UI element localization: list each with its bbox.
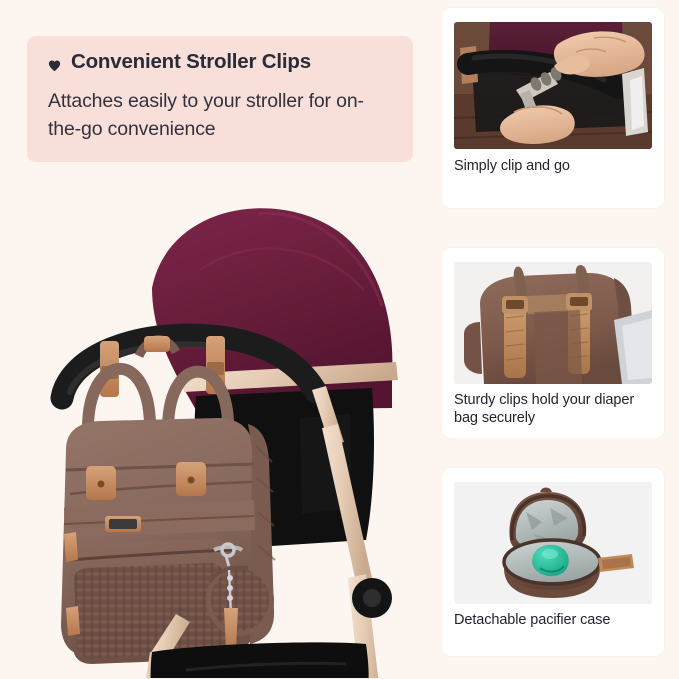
feature-card-sturdy-clips[interactable]: Sturdy clips hold your diaper bag secure… [442, 248, 664, 438]
card-caption: Simply clip and go [454, 158, 654, 176]
pacifier-case-photo [454, 482, 652, 604]
sturdy-clips-photo [454, 262, 652, 384]
feature-card-clip-and-go[interactable]: Simply clip and go [442, 8, 664, 208]
hero-photo [0, 178, 440, 678]
left-column: Convenient Stroller Clips Attaches easil… [0, 0, 440, 679]
feature-card-pacifier-case[interactable]: Detachable pacifier case [442, 468, 664, 656]
card-caption: Sturdy clips hold your diaper bag secure… [454, 392, 654, 427]
headline-subtitle: Attaches easily to your stroller for on-… [48, 88, 395, 143]
heart-icon [47, 58, 62, 73]
headline-banner: Convenient Stroller Clips Attaches easil… [27, 36, 413, 162]
page-title: Convenient Stroller Clips [71, 51, 311, 74]
headline-row: Convenient Stroller Clips [47, 51, 399, 74]
product-feature-graphic: Convenient Stroller Clips Attaches easil… [0, 0, 679, 679]
card-caption: Detachable pacifier case [454, 612, 654, 630]
clip-and-go-photo [454, 22, 652, 149]
